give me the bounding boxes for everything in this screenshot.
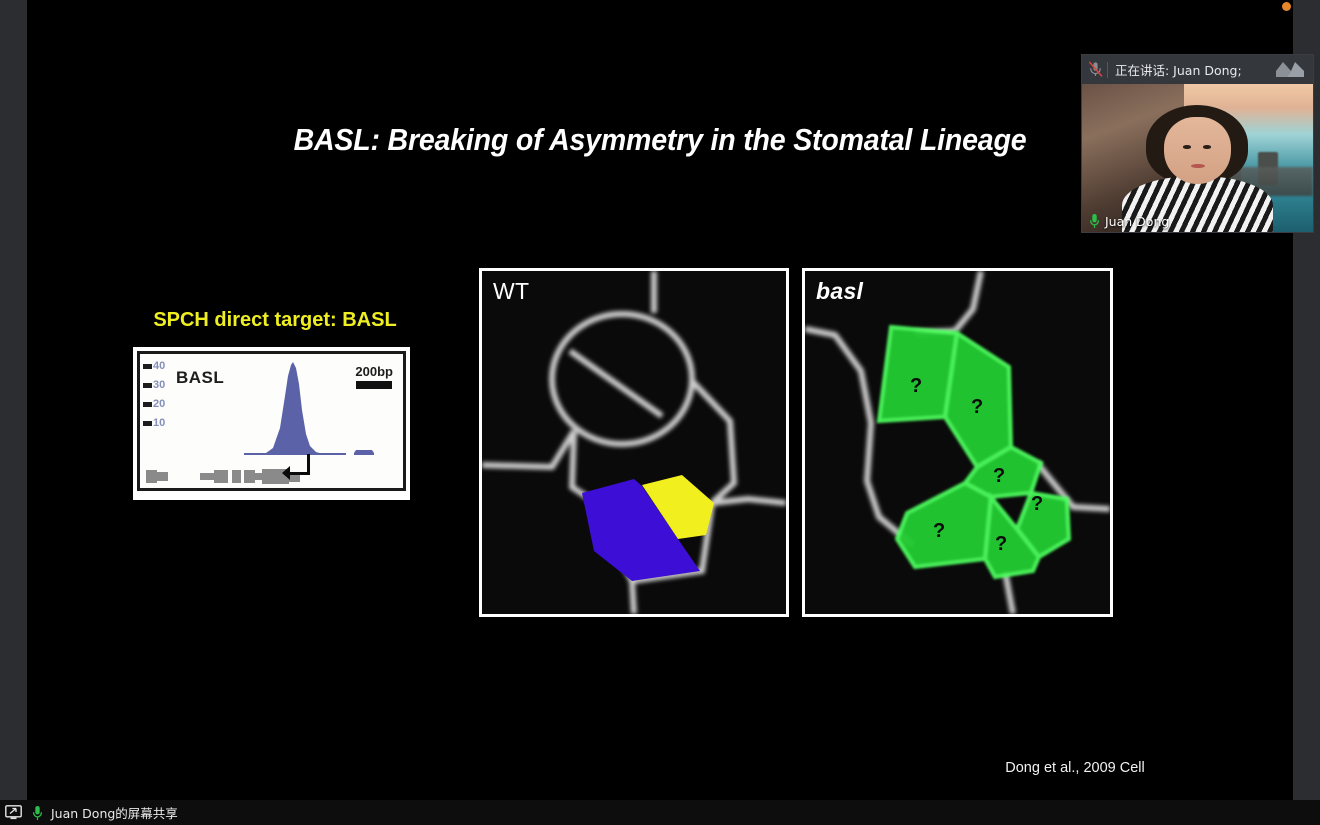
mic-active-icon[interactable]: [31, 805, 44, 821]
active-speaker-status: 正在讲话: Juan Dong;: [1115, 60, 1242, 79]
eye: [1183, 145, 1191, 148]
question-mark: ?: [933, 520, 945, 543]
question-mark: ?: [971, 396, 983, 419]
question-mark: ?: [1031, 493, 1043, 516]
gene-model-block: [146, 470, 157, 483]
mic-active-icon: [1088, 213, 1101, 229]
gene-model-block: [232, 470, 241, 483]
recording-indicator-dot: [1282, 2, 1291, 11]
mouth: [1191, 164, 1206, 169]
participant-name: Juan Dong: [1105, 214, 1169, 229]
panel-label-basl: basl: [816, 278, 863, 305]
eye: [1203, 145, 1211, 148]
gene-model-block: [214, 470, 228, 483]
question-mark: ?: [910, 375, 922, 398]
video-feed[interactable]: Juan Dong: [1082, 84, 1313, 232]
header-divider: [1107, 62, 1108, 78]
basl-cell-image: [805, 271, 1110, 614]
speaker-video-thumbnail[interactable]: 正在讲话: Juan Dong;: [1081, 54, 1314, 233]
mic-muted-icon[interactable]: [1088, 61, 1103, 78]
zoom-meeting-window: BASL: Breaking of Asymmetry in the Stoma…: [0, 0, 1320, 825]
chip-seq-figure: 40 30 20 10 BASL 200bp: [133, 347, 410, 500]
wt-cell-image: [482, 271, 786, 614]
slide-citation: Dong et al., 2009 Cell: [975, 760, 1175, 776]
video-thumbnail-header: 正在讲话: Juan Dong;: [1082, 55, 1313, 84]
micrograph-panel-basl[interactable]: basl: [802, 268, 1113, 617]
question-mark: ?: [993, 465, 1005, 488]
screen-share-icon[interactable]: [5, 805, 22, 820]
question-mark: ?: [995, 533, 1007, 556]
micrograph-panel-wt[interactable]: WT: [479, 268, 789, 617]
tss-arrow-icon: [282, 452, 312, 484]
chip-plot-area: 40 30 20 10 BASL 200bp: [137, 351, 406, 491]
screen-share-status: Juan Dong的屏幕共享: [51, 803, 178, 822]
gallery-view-icon[interactable]: [1273, 60, 1307, 79]
panel-label-wt: WT: [493, 278, 529, 305]
slide-title: BASL: Breaking of Asymmetry in the Stoma…: [78, 122, 1243, 158]
chip-peak-trace: [140, 354, 412, 459]
bottom-status-bar: Juan Dong的屏幕共享: [0, 800, 1320, 825]
participant-name-bar: Juan Dong: [1082, 210, 1175, 232]
face: [1164, 117, 1231, 183]
chip-figure-caption: SPCH direct target: BASL: [125, 309, 425, 332]
